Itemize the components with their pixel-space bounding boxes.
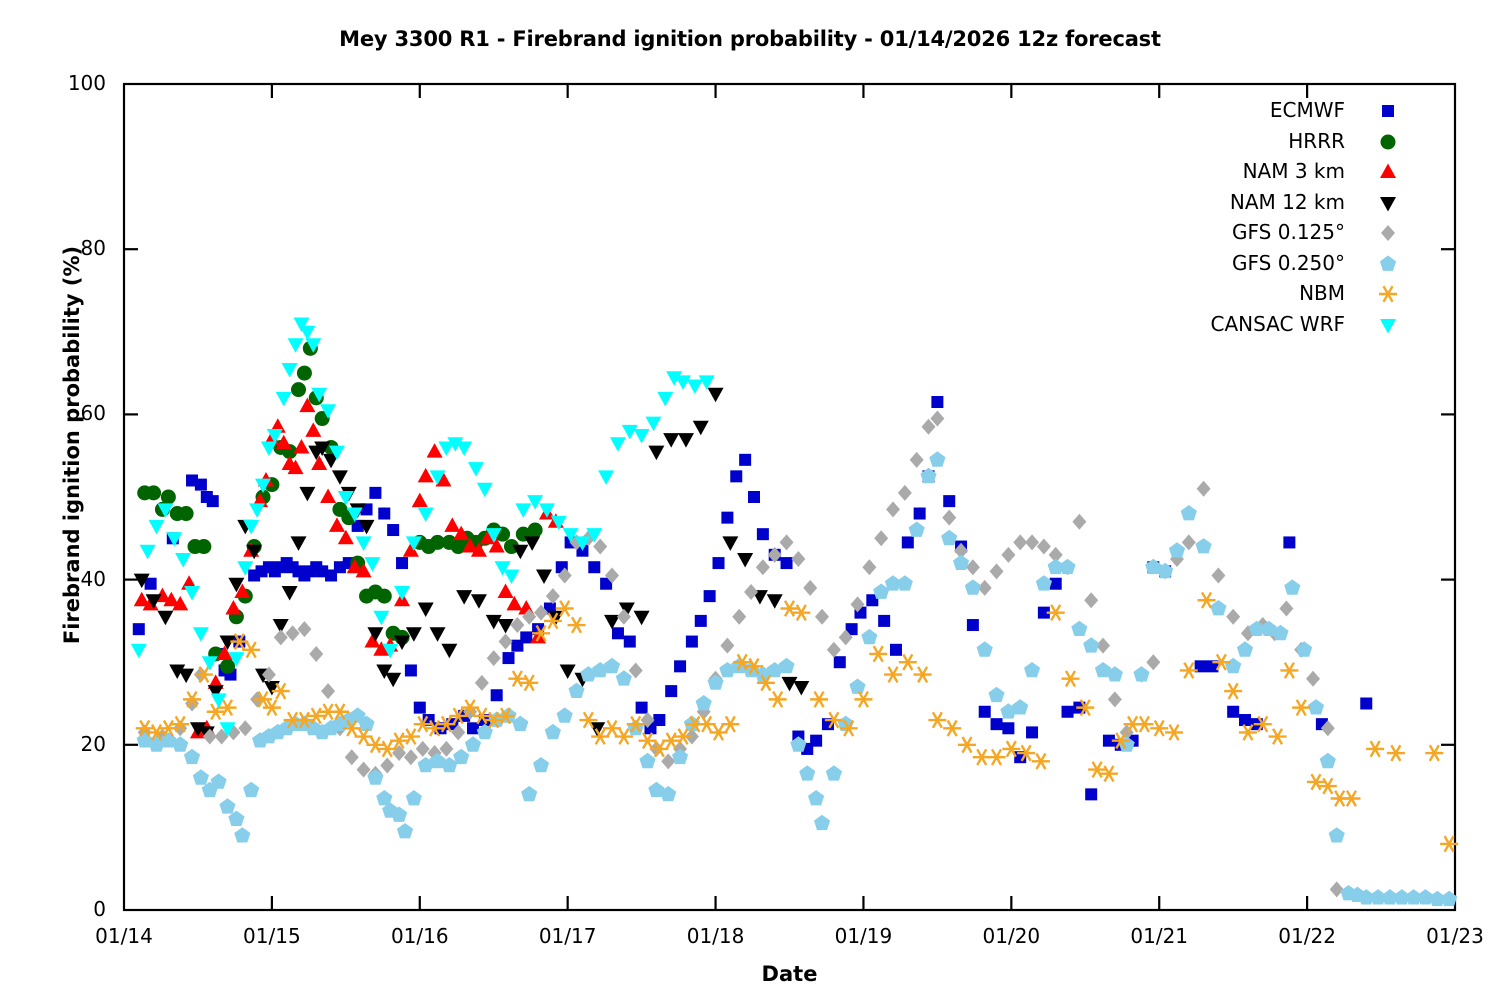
data-point-pentagon	[799, 765, 815, 780]
data-point-square	[979, 706, 991, 718]
data-point-pentagon	[465, 736, 481, 751]
data-point-diamond	[780, 534, 794, 550]
data-point-asterisk	[1319, 778, 1337, 794]
data-point-square	[195, 479, 207, 491]
data-point-diamond	[1084, 592, 1098, 608]
data-point-diamond	[1226, 609, 1240, 625]
data-point-pentagon	[965, 579, 981, 594]
data-point-diamond	[1146, 654, 1160, 670]
x-tick-label: 01/19	[803, 924, 923, 948]
data-point-asterisk	[1061, 671, 1079, 687]
data-point-square	[943, 495, 955, 507]
legend-marker-pentagon-icon	[1374, 250, 1402, 278]
data-point-diamond	[380, 757, 394, 773]
data-point-diamond	[238, 720, 252, 736]
data-point-diamond	[886, 501, 900, 517]
data-point-diamond	[1001, 547, 1015, 563]
data-point-triangle-down	[634, 429, 650, 444]
data-point-square	[757, 528, 769, 540]
data-point-pentagon	[861, 629, 877, 644]
data-point-square	[704, 590, 716, 602]
legend-marker-circle-icon	[1374, 128, 1402, 156]
data-point-pentagon	[696, 695, 712, 710]
data-point-triangle-down	[722, 536, 738, 551]
data-point-asterisk	[914, 667, 932, 683]
data-point-square	[1085, 788, 1097, 800]
data-point-square	[653, 714, 665, 726]
data-point-diamond	[1306, 671, 1320, 687]
data-point-asterisk	[1100, 766, 1118, 782]
data-point-square	[133, 623, 145, 635]
data-point-pentagon	[977, 641, 993, 656]
data-point-triangle-down	[708, 388, 724, 403]
data-point-diamond	[942, 510, 956, 526]
data-point-pentagon	[989, 687, 1005, 702]
data-point-square	[713, 557, 725, 569]
data-point-pentagon	[453, 749, 469, 764]
data-point-triangle-up	[311, 455, 327, 470]
data-point-triangle-up	[444, 517, 460, 532]
legend-label-cansac-wrf: CANSAC WRF	[1125, 312, 1345, 336]
data-point-circle	[291, 382, 306, 397]
y-tick-label: 60	[16, 401, 106, 425]
data-point-triangle-down	[157, 611, 173, 626]
data-point-square	[612, 627, 624, 639]
data-point-square	[520, 631, 532, 643]
data-point-square	[1360, 698, 1372, 710]
data-point-triangle-down	[291, 536, 307, 551]
x-tick-label: 01/20	[951, 924, 1071, 948]
data-point-triangle-up	[293, 439, 309, 454]
data-point-circle	[146, 485, 161, 500]
data-point-asterisk	[1379, 286, 1397, 302]
x-tick-label: 01/17	[508, 924, 628, 948]
data-point-pentagon	[708, 674, 724, 689]
data-point-pentagon	[234, 827, 250, 842]
data-point-diamond	[1330, 881, 1344, 897]
data-point-triangle-down	[560, 664, 576, 679]
data-point-diamond	[475, 675, 489, 691]
legend-marker-triangle-down-icon	[1374, 189, 1402, 217]
data-point-square	[1382, 105, 1394, 117]
series-hrrr	[137, 341, 542, 674]
data-point-pentagon	[1133, 666, 1149, 681]
data-point-diamond	[404, 749, 418, 765]
data-point-asterisk	[1292, 700, 1310, 716]
data-point-asterisk	[603, 720, 621, 736]
data-point-diamond	[1381, 225, 1395, 241]
data-point-square	[739, 454, 751, 466]
data-point-asterisk	[810, 692, 828, 708]
x-tick-label: 01/21	[1099, 924, 1219, 948]
data-point-asterisk	[781, 601, 799, 617]
data-point-triangle-down	[767, 594, 783, 609]
data-point-diamond	[1108, 691, 1122, 707]
data-point-diamond	[1197, 481, 1211, 497]
data-point-triangle-down	[503, 569, 519, 584]
data-point-square	[503, 652, 515, 664]
data-point-triangle-down	[515, 503, 531, 518]
data-point-triangle-down	[193, 627, 209, 642]
data-point-triangle-down	[524, 536, 540, 551]
data-point-triangle-down	[332, 470, 348, 485]
data-point-asterisk	[1150, 720, 1168, 736]
data-point-square	[810, 735, 822, 747]
data-point-pentagon	[941, 530, 957, 545]
data-point-pentagon	[1071, 621, 1087, 636]
data-point-pentagon	[1169, 542, 1185, 557]
data-point-diamond	[416, 741, 430, 757]
data-point-pentagon	[1024, 662, 1040, 677]
legend-marker-triangle-up-icon	[1374, 158, 1402, 186]
data-point-triangle-down	[418, 603, 434, 618]
data-point-diamond	[274, 629, 288, 645]
data-point-triangle-down	[634, 611, 650, 626]
data-point-asterisk	[698, 716, 716, 732]
data-point-asterisk	[710, 725, 728, 741]
x-tick-label: 01/18	[656, 924, 776, 948]
x-tick-label: 01/15	[212, 924, 332, 948]
legend-label-nam-3-km: NAM 3 km	[1125, 159, 1345, 183]
data-point-circle	[161, 490, 176, 505]
data-point-pentagon	[920, 468, 936, 483]
data-point-diamond	[732, 609, 746, 625]
data-point-triangle-down	[468, 462, 484, 477]
data-point-square	[781, 557, 793, 569]
data-point-square	[405, 664, 417, 676]
data-point-triangle-down	[149, 520, 165, 535]
data-point-asterisk	[792, 605, 810, 621]
data-point-asterisk	[1366, 741, 1384, 757]
data-point-diamond	[321, 683, 335, 699]
data-point-square	[378, 508, 390, 520]
data-point-asterisk	[366, 737, 384, 753]
data-point-pentagon	[808, 790, 824, 805]
legend-marker-square-icon	[1374, 97, 1402, 125]
data-point-square	[1050, 578, 1062, 590]
data-point-triangle-down	[536, 569, 552, 584]
data-point-triangle-down	[648, 446, 664, 461]
data-point-pentagon	[1210, 600, 1226, 615]
data-point-square	[467, 722, 479, 734]
data-point-pentagon	[604, 658, 620, 673]
data-point-triangle-down	[693, 421, 709, 436]
data-point-diamond	[744, 584, 758, 600]
data-point-triangle-down	[220, 636, 236, 651]
data-point-asterisk	[508, 671, 526, 687]
legend-label-nbm: NBM	[1125, 281, 1345, 305]
data-point-asterisk	[943, 720, 961, 736]
data-point-triangle-down	[394, 586, 410, 601]
data-point-pentagon	[897, 575, 913, 590]
data-point-square	[396, 557, 408, 569]
data-point-square	[748, 491, 760, 503]
data-point-pentagon	[1284, 579, 1300, 594]
data-point-triangle-up	[506, 596, 522, 611]
data-point-pentagon	[406, 790, 422, 805]
data-point-square	[207, 495, 219, 507]
data-point-asterisk	[869, 646, 887, 662]
data-point-triangle-up	[427, 443, 443, 458]
data-point-diamond	[815, 609, 829, 625]
legend-marker-diamond-icon	[1374, 219, 1402, 247]
data-point-triangle-down	[249, 503, 265, 518]
data-point-triangle-down	[356, 536, 372, 551]
data-point-asterisk	[207, 704, 225, 720]
data-point-pentagon	[243, 782, 259, 797]
data-point-pentagon	[639, 753, 655, 768]
data-point-triangle-down	[793, 681, 809, 696]
data-point-triangle-up	[498, 583, 514, 598]
data-point-asterisk	[854, 692, 872, 708]
data-point-pentagon	[953, 555, 969, 570]
data-point-square	[588, 561, 600, 573]
data-point-diamond	[1072, 514, 1086, 530]
data-point-triangle-down	[282, 363, 298, 378]
data-point-pentagon	[1196, 538, 1212, 553]
data-point-square	[636, 702, 648, 714]
data-point-square	[1062, 706, 1074, 718]
data-point-triangle-up	[1380, 164, 1396, 179]
data-point-triangle-down	[678, 433, 694, 448]
data-point-circle	[377, 589, 392, 604]
series-gfs-0-250	[137, 451, 1458, 906]
data-point-diamond	[487, 650, 501, 666]
data-point-diamond	[910, 452, 924, 468]
data-point-pentagon	[184, 749, 200, 764]
data-point-square	[878, 615, 890, 627]
data-point-square	[624, 636, 636, 648]
data-point-diamond	[1279, 601, 1293, 617]
data-point-triangle-up	[320, 489, 336, 504]
data-point-square	[730, 470, 742, 482]
data-point-triangle-down	[276, 392, 292, 407]
data-point-pentagon	[397, 823, 413, 838]
data-point-triangle-down	[477, 483, 493, 498]
data-point-triangle-down	[385, 673, 401, 688]
data-point-pentagon	[1320, 753, 1336, 768]
data-point-triangle-down	[184, 586, 200, 601]
data-point-triangle-down	[527, 495, 543, 510]
data-point-asterisk	[1165, 725, 1183, 741]
data-point-diamond	[1211, 567, 1225, 583]
data-point-pentagon	[219, 798, 235, 813]
data-point-square	[1227, 706, 1239, 718]
data-point-pentagon	[814, 815, 830, 830]
data-point-triangle-down	[441, 644, 457, 659]
data-point-diamond	[297, 621, 311, 637]
data-point-asterisk	[769, 692, 787, 708]
data-point-pentagon	[1237, 641, 1253, 656]
data-point-asterisk	[1307, 774, 1325, 790]
data-point-triangle-up	[338, 530, 354, 545]
data-point-pentagon	[1296, 641, 1312, 656]
data-point-asterisk	[650, 741, 668, 757]
data-point-triangle-down	[456, 441, 472, 456]
data-point-triangle-down	[175, 553, 191, 568]
data-point-asterisk	[899, 654, 917, 670]
data-point-pentagon	[1329, 827, 1345, 842]
data-point-circle	[528, 523, 543, 538]
data-point-triangle-down	[299, 487, 315, 502]
data-point-triangle-down	[418, 508, 434, 523]
legend-label-gfs-0-125: GFS 0.125°	[1125, 220, 1345, 244]
data-point-pentagon	[849, 679, 865, 694]
data-point-asterisk	[1224, 683, 1242, 699]
data-point-asterisk	[1135, 716, 1153, 732]
data-point-diamond	[898, 485, 912, 501]
data-point-circle	[220, 659, 235, 674]
data-point-diamond	[803, 580, 817, 596]
data-point-triangle-down	[299, 326, 315, 341]
data-point-diamond	[990, 563, 1004, 579]
data-point-diamond	[546, 588, 560, 604]
data-point-circle	[179, 506, 194, 521]
data-point-diamond	[1025, 534, 1039, 550]
data-point-asterisk	[520, 675, 538, 691]
data-point-asterisk	[1280, 663, 1298, 679]
data-point-asterisk	[1425, 745, 1443, 761]
data-point-triangle-down	[202, 656, 218, 671]
data-point-pentagon	[557, 707, 573, 722]
data-point-diamond	[593, 539, 607, 555]
data-point-pentagon	[533, 757, 549, 772]
data-point-triangle-down	[140, 545, 156, 560]
data-point-square	[834, 656, 846, 668]
data-point-triangle-down	[737, 553, 753, 568]
data-point-asterisk	[958, 737, 976, 753]
x-tick-label: 01/23	[1395, 924, 1500, 948]
data-point-square	[369, 487, 381, 499]
data-point-diamond	[756, 559, 770, 575]
data-point-triangle-down	[598, 470, 614, 485]
data-point-diamond	[439, 741, 453, 757]
y-tick-label: 40	[16, 567, 106, 591]
data-point-square	[1239, 714, 1251, 726]
data-point-triangle-down	[687, 379, 703, 394]
series-nam-12-km	[134, 388, 810, 741]
data-point-asterisk	[1088, 762, 1106, 778]
data-point-diamond	[791, 551, 805, 567]
data-point-square	[1026, 726, 1038, 738]
data-point-triangle-down	[430, 627, 446, 642]
data-point-asterisk	[355, 729, 373, 745]
data-point-pentagon	[616, 670, 632, 685]
data-point-triangle-down	[394, 636, 410, 651]
data-point-pentagon	[545, 724, 561, 739]
data-point-triangle-down	[373, 611, 389, 626]
data-point-pentagon	[1181, 505, 1197, 520]
data-point-asterisk	[928, 712, 946, 728]
data-point-asterisk	[568, 617, 586, 633]
data-point-square	[1283, 536, 1295, 548]
data-point-square	[674, 660, 686, 672]
data-point-square	[931, 396, 943, 408]
series-gfs-0-125	[138, 411, 1344, 898]
data-point-square	[686, 636, 698, 648]
data-point-triangle-up	[412, 493, 428, 508]
data-point-triangle-down	[178, 669, 194, 684]
data-point-asterisk	[721, 716, 739, 732]
data-point-triangle-down	[498, 619, 514, 634]
data-point-square	[721, 512, 733, 524]
data-point-asterisk	[402, 729, 420, 745]
data-point-pentagon	[672, 749, 688, 764]
data-point-triangle-down	[456, 590, 472, 605]
data-point-pentagon	[1308, 699, 1324, 714]
data-point-triangle-up	[225, 600, 241, 615]
data-point-pentagon	[1225, 658, 1241, 673]
data-point-square	[914, 508, 926, 520]
data-point-square	[491, 689, 503, 701]
data-point-pentagon	[779, 658, 795, 673]
data-point-triangle-up	[418, 468, 434, 483]
data-point-asterisk	[884, 667, 902, 683]
data-point-pentagon	[193, 769, 209, 784]
data-point-pentagon	[1012, 699, 1028, 714]
data-point-square	[902, 536, 914, 548]
data-point-triangle-down	[282, 586, 298, 601]
data-point-asterisk	[1387, 745, 1405, 761]
data-point-circle	[297, 366, 312, 381]
data-point-square	[967, 619, 979, 631]
data-point-square	[695, 615, 707, 627]
data-point-diamond	[345, 749, 359, 765]
data-point-diamond	[874, 530, 888, 546]
data-point-asterisk	[674, 729, 692, 745]
data-point-circle	[196, 539, 211, 554]
data-point-diamond	[862, 559, 876, 575]
data-point-asterisk	[1342, 791, 1360, 807]
data-point-square	[414, 702, 426, 714]
data-point-square	[991, 718, 1003, 730]
x-tick-label: 01/22	[1247, 924, 1367, 948]
data-point-pentagon	[1059, 559, 1075, 574]
data-point-triangle-down	[663, 433, 679, 448]
firebrand-ignition-scatter-chart: Mey 3300 R1 - Firebrand ignition probabi…	[0, 0, 1500, 1000]
data-point-triangle-down	[610, 437, 626, 452]
data-point-circle	[1381, 134, 1396, 149]
data-point-diamond	[309, 646, 323, 662]
legend-marker-asterisk-icon	[1374, 280, 1402, 308]
legend-label-ecmwf: ECMWF	[1125, 98, 1345, 122]
data-point-pentagon	[929, 451, 945, 466]
data-point-pentagon	[826, 765, 842, 780]
y-tick-label: 20	[16, 732, 106, 756]
data-point-diamond	[720, 638, 734, 654]
data-point-pentagon	[1083, 637, 1099, 652]
x-tick-label: 01/14	[64, 924, 184, 948]
data-point-triangle-down	[288, 338, 304, 353]
data-point-pentagon	[909, 522, 925, 537]
data-point-triangle-down	[131, 644, 147, 659]
data-point-pentagon	[1036, 575, 1052, 590]
data-point-asterisk	[1032, 754, 1050, 770]
legend-marker-triangle-down-icon	[1374, 311, 1402, 339]
data-point-square	[1002, 722, 1014, 734]
legend-label-nam-12-km: NAM 12 km	[1125, 190, 1345, 214]
legend-label-hrrr: HRRR	[1125, 129, 1345, 153]
data-point-pentagon	[521, 786, 537, 801]
data-point-asterisk	[1269, 729, 1287, 745]
data-point-pentagon	[367, 769, 383, 784]
data-point-triangle-down	[645, 417, 661, 432]
data-point-asterisk	[988, 749, 1006, 765]
data-point-triangle-down	[1380, 319, 1396, 334]
data-point-diamond	[1037, 539, 1051, 555]
y-tick-label: 80	[16, 236, 106, 260]
data-point-diamond	[499, 634, 513, 650]
